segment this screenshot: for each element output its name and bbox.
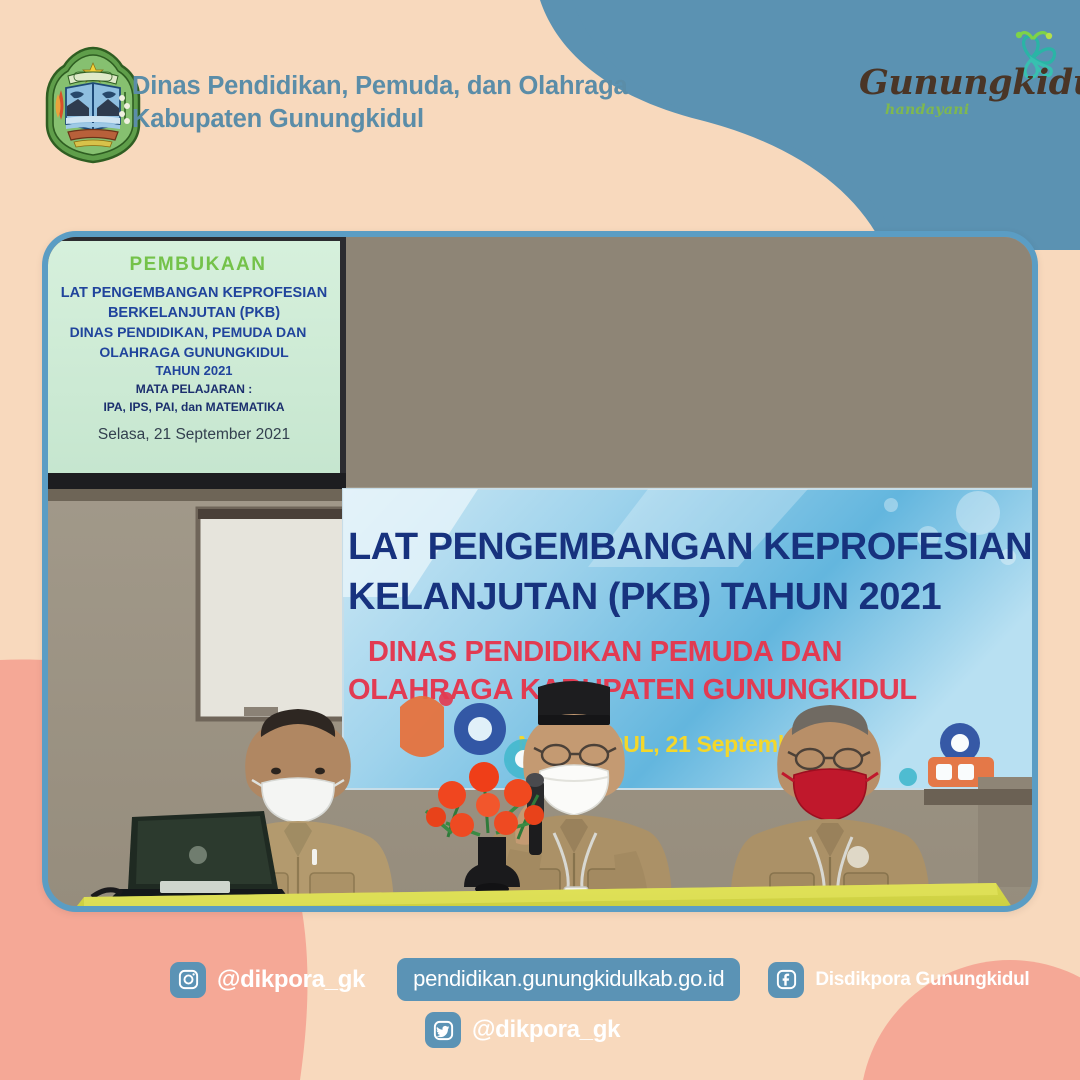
gunungkidul-regency-crest-icon	[44, 46, 142, 164]
svg-text:LAT PENGEMBANGAN KEPROFESIAN: LAT PENGEMBANGAN KEPROFESIAN	[348, 526, 1032, 568]
page-header: Dinas Pendidikan, Pemuda, dan Olahraga K…	[0, 0, 1080, 200]
gunungkidul-handayani-logo: Gunungkidul handayani	[855, 28, 1070, 136]
page-title: Dinas Pendidikan, Pemuda, dan Olahraga K…	[132, 70, 652, 136]
svg-text:OLAHRAGA GUNUNGKIDUL: OLAHRAGA GUNUNGKIDUL	[99, 344, 289, 360]
twitter-icon[interactable]	[425, 1012, 461, 1048]
svg-text:IPA, IPS, PAI, dan MATEMATIKA: IPA, IPS, PAI, dan MATEMATIKA	[103, 400, 284, 414]
facebook-page-name[interactable]: Disdikpora Gunungkidul	[815, 969, 1029, 991]
website-url[interactable]: pendidikan.gunungkidulkab.go.id	[397, 958, 740, 1001]
dept-title-line1: Dinas Pendidikan, Pemuda, dan Olahraga	[132, 72, 627, 100]
social-footer: @dikpora_gk pendidikan.gunungkidulkab.go…	[0, 938, 1080, 1080]
slide-title: PEMBUKAAN	[130, 254, 267, 275]
event-banner: LAT PENGEMBANGAN KEPROFESIAN KELANJUTAN …	[343, 489, 1032, 789]
facebook-icon[interactable]	[768, 962, 804, 998]
twitter-handle[interactable]: @dikpora_gk	[472, 1016, 620, 1044]
svg-text:MATA PELAJARAN :: MATA PELAJARAN :	[136, 382, 252, 396]
dept-title-line2: Kabupaten Gunungkidul	[132, 103, 652, 136]
svg-text:KELANJUTAN (PKB) TAHUN 2021: KELANJUTAN (PKB) TAHUN 2021	[348, 576, 942, 618]
svg-text:DINAS PENDIDIKAN PEMUDA DAN: DINAS PENDIDIKAN PEMUDA DAN	[368, 636, 842, 668]
event-photo: PEMBUKAAN LAT PENGEMBANGAN KEPROFESIAN B…	[48, 237, 1032, 906]
svg-text:TAHUN 2021: TAHUN 2021	[155, 363, 232, 378]
event-photo-illustration: PEMBUKAAN LAT PENGEMBANGAN KEPROFESIAN B…	[48, 237, 1032, 906]
handayani-tagline: handayani	[885, 102, 970, 118]
instagram-handle[interactable]: @dikpora_gk	[217, 966, 365, 994]
svg-text:LAT PENGEMBANGAN KEPROFESIAN: LAT PENGEMBANGAN KEPROFESIAN	[61, 285, 327, 301]
event-photo-card: PEMBUKAAN LAT PENGEMBANGAN KEPROFESIAN B…	[42, 231, 1038, 912]
svg-text:DINAS PENDIDIKAN, PEMUDA DAN: DINAS PENDIDIKAN, PEMUDA DAN	[70, 324, 307, 340]
svg-text:BERKELANJUTAN (PKB): BERKELANJUTAN (PKB)	[108, 305, 280, 321]
gunungkidul-wordmark: Gunungkidul	[859, 62, 1080, 103]
instagram-icon[interactable]	[170, 962, 206, 998]
svg-text:Selasa, 21 September 2021: Selasa, 21 September 2021	[98, 426, 290, 443]
